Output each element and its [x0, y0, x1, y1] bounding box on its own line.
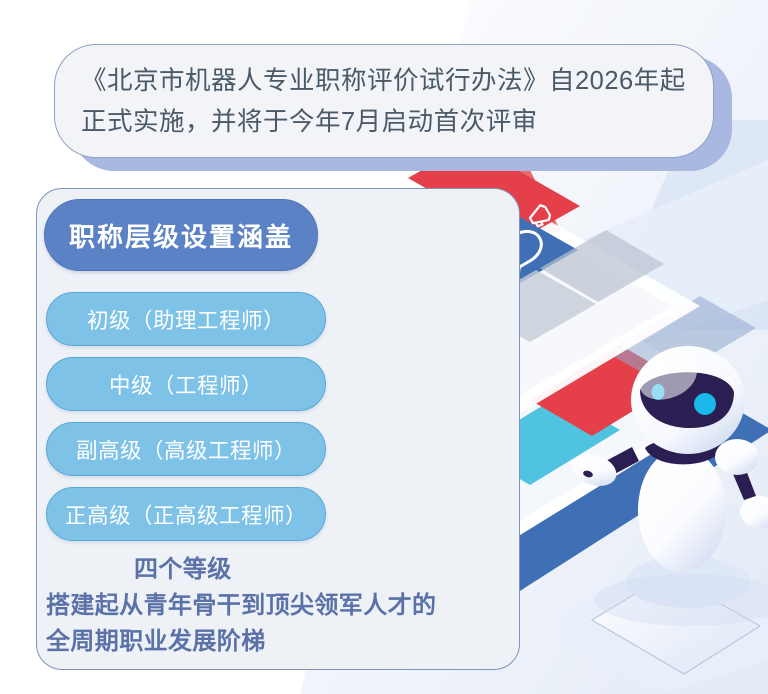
- headline-card: 《北京市机器人专业职称评价试行办法》自2026年起 正式实施，并将于今年7月启动…: [54, 44, 714, 158]
- level-pill-junior: 初级（助理工程师）: [46, 292, 326, 346]
- level-pill-full-senior: 正高级（正高级工程师）: [46, 487, 326, 541]
- level-pill-associate-senior: 副高级（高级工程师）: [46, 422, 326, 476]
- level-pill-list: 初级（助理工程师） 中级（工程师） 副高级（高级工程师） 正高级（正高级工程师）: [46, 292, 326, 552]
- level-pill-intermediate: 中级（工程师）: [46, 357, 326, 411]
- level-pill-label: 副高级（高级工程师）: [76, 434, 296, 465]
- summary-text: 四个等级 搭建起从青年骨干到顶尖领军人才的 全周期职业发展阶梯: [46, 552, 486, 660]
- robot-eye-right: [694, 393, 716, 415]
- level-pill-label: 初级（助理工程师）: [87, 304, 285, 335]
- summary-line-3: 全周期职业发展阶梯: [46, 624, 486, 660]
- section-header-pill: 职称层级设置涵盖: [44, 199, 318, 271]
- summary-line-2: 搭建起从青年骨干到顶尖领军人才的: [46, 588, 486, 624]
- section-header-label: 职称层级设置涵盖: [69, 217, 293, 254]
- summary-line-1: 四个等级: [46, 552, 486, 588]
- infographic-canvas: 《北京市机器人专业职称评价试行办法》自2026年起 正式实施，并将于今年7月启动…: [0, 0, 768, 694]
- headline-line-1: 《北京市机器人专业职称评价试行办法》自2026年起: [81, 61, 687, 102]
- level-pill-label: 中级（工程师）: [109, 369, 263, 400]
- level-pill-label: 正高级（正高级工程师）: [65, 499, 307, 530]
- headline-line-2: 正式实施，并将于今年7月启动首次评审: [81, 102, 687, 143]
